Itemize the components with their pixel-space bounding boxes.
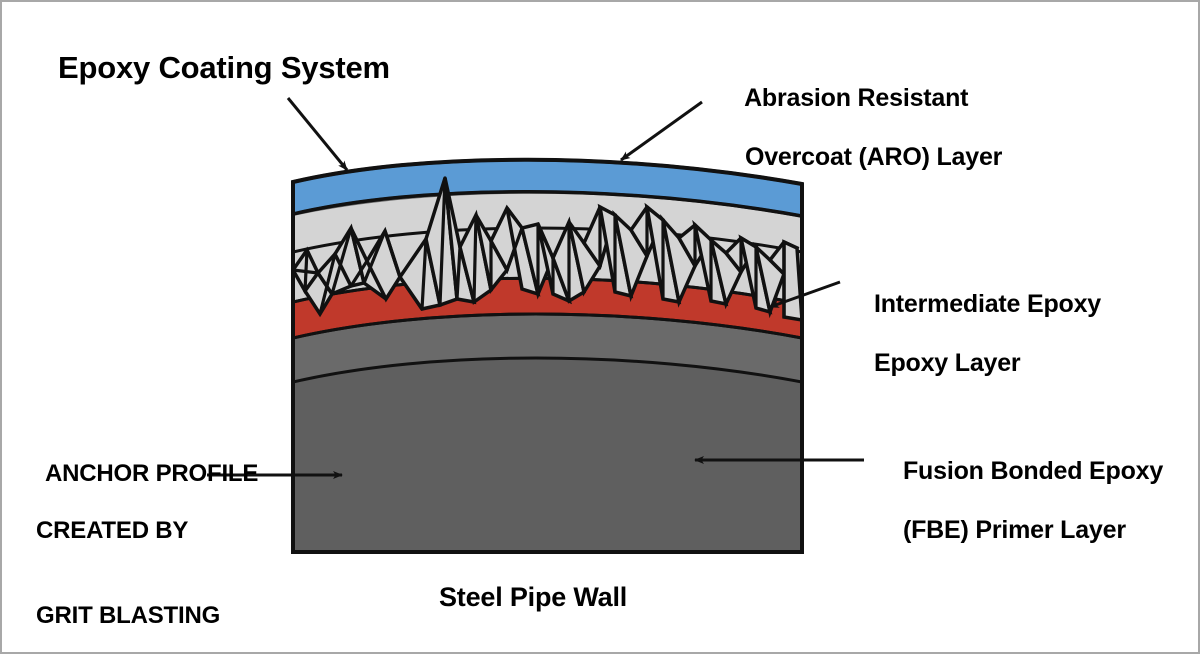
callout-label-anchor-line1: ANCHOR PROFILE (45, 460, 258, 487)
callout-label-intermediate-epoxy: Intermediate Epoxy Epoxy Layer (847, 260, 1101, 408)
diagram-canvas: Epoxy Coating System Abrasion Resistant … (0, 0, 1200, 654)
callout-label-aro-line2: Overcoat (ARO) Layer (745, 143, 1002, 171)
coating-layer-stack (293, 160, 802, 552)
callout-label-aro-line1: Abrasion Resistant (744, 84, 968, 112)
callout-label-fbe-primer: Fusion Bonded Epoxy (FBE) Primer Layer (876, 427, 1163, 575)
callout-label-anchor-line3: GRIT BLASTING (20, 602, 258, 630)
callout-label-aro: Abrasion Resistant Overcoat (ARO) Layer (718, 54, 1002, 202)
diagram-caption: Steel Pipe Wall (439, 582, 627, 614)
page-title: Epoxy Coating System (58, 50, 390, 87)
arrow-aro-layer (621, 102, 702, 160)
callout-label-anchor-profile: ANCHOR PROFILE CREATED BY GRIT BLASTING (20, 432, 258, 654)
callout-label-intermediate-line1: Intermediate Epoxy (874, 290, 1101, 318)
callout-label-fbe-line2: (FBE) Primer Layer (903, 516, 1126, 544)
callout-label-intermediate-line2: Epoxy Layer (874, 349, 1020, 377)
callout-label-fbe-line1: Fusion Bonded Epoxy (903, 457, 1163, 485)
arrow-epoxy-coating-system (288, 98, 347, 170)
callout-label-anchor-line2: CREATED BY (20, 517, 258, 545)
